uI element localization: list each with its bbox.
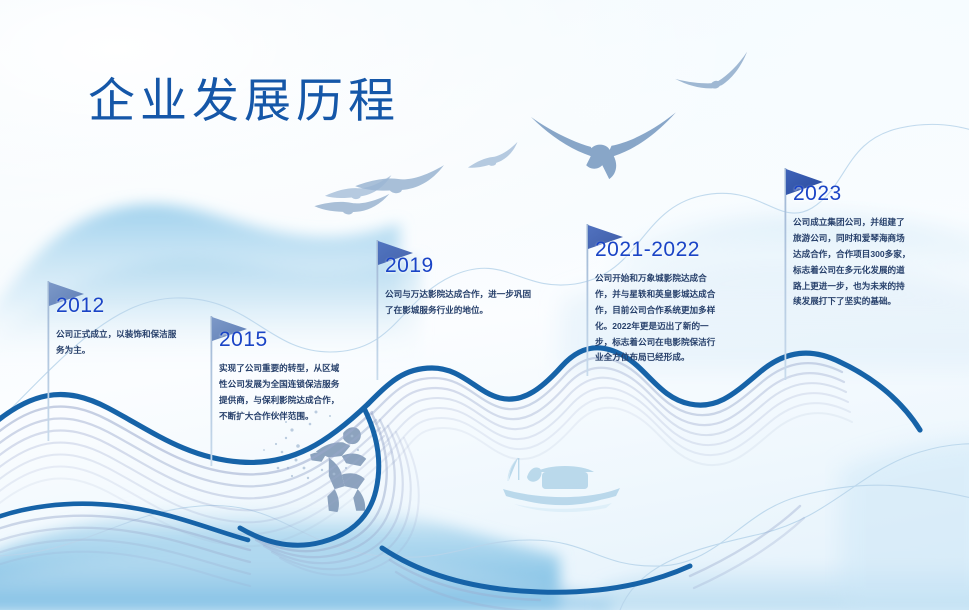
- flag-pole: [48, 281, 50, 441]
- fishing-boat-silhouette: [503, 458, 620, 512]
- milestone-description: 公司开始和万象城影院达成合作，并与星轶和英皇影城达成合作，目前公司合作系统更加多…: [595, 271, 719, 366]
- milestone-2015[interactable]: 2015 实现了公司重要的转型，从区域性公司发展为全国连锁保洁服务提供商，与保利…: [219, 328, 345, 425]
- mountains-bottom-left: [0, 495, 610, 610]
- mountains-right-edge: [840, 438, 969, 610]
- milestone-year: 2023: [793, 182, 913, 206]
- seagull-icon: [531, 112, 676, 179]
- milestone-description: 公司成立集团公司，并组建了旅游公司，同时和爱琴海商场达成合作，合作项目300多家…: [793, 215, 913, 310]
- poster-canvas: 企业发展历程: [0, 0, 969, 610]
- particle-runner-silhouette: [263, 411, 366, 513]
- seagull-icon: [355, 153, 444, 199]
- milestone-2012[interactable]: 2012 公司正式成立，以装饰和保洁服务为主。: [56, 294, 180, 359]
- seagull-icon: [466, 142, 520, 169]
- milestone-2021-2022[interactable]: 2021-2022 公司开始和万象城影院达成合作，并与星轶和英皇影城达成合作，目…: [595, 238, 719, 366]
- milestone-description: 公司正式成立，以装饰和保洁服务为主。: [56, 327, 180, 359]
- mountains-bottom-right: [600, 545, 969, 610]
- seagull-icon: [325, 171, 392, 202]
- milestone-year: 2012: [56, 294, 180, 318]
- page-title: 企业发展历程: [88, 62, 400, 131]
- milestone-2019[interactable]: 2019 公司与万达影院达成合作，进一步巩固了在影城服务行业的地位。: [385, 254, 537, 319]
- flag-pole: [211, 316, 213, 466]
- flag-pole: [587, 224, 589, 376]
- milestone-description: 实现了公司重要的转型，从区域性公司发展为全国连锁保洁服务提供商，与保利影院达成合…: [219, 361, 345, 425]
- milestone-description: 公司与万达影院达成合作，进一步巩固了在影城服务行业的地位。: [385, 287, 535, 319]
- flag-pole: [377, 240, 379, 380]
- seagull-icon: [674, 52, 755, 100]
- milestone-2023[interactable]: 2023 公司成立集团公司，并组建了旅游公司，同时和爱琴海商场达成合作，合作项目…: [793, 182, 913, 310]
- milestone-year: 2021-2022: [595, 238, 719, 262]
- flag-pole: [785, 168, 787, 380]
- seagull-icon: [314, 179, 389, 222]
- milestone-year: 2015: [219, 328, 345, 352]
- ribbon: [0, 348, 920, 610]
- milestone-year: 2019: [385, 254, 537, 278]
